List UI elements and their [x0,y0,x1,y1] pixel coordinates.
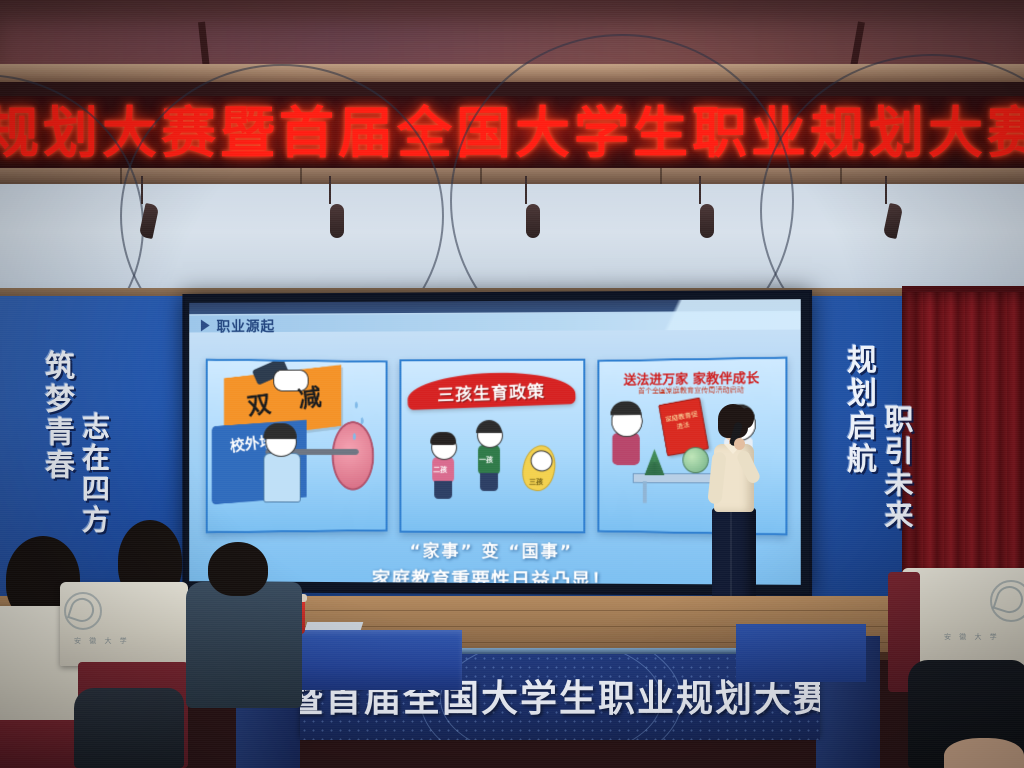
audience-jacket-2 [74,688,184,768]
chair-logo-2 [64,592,102,630]
slide-header-diagonal [587,299,800,330]
chair-logo-text-3: 安 徽 大 学 [944,632,1000,642]
presenter-hand [734,438,745,450]
panel3-plant-icon [645,449,665,475]
right-banner-line1: 规划启航 [836,344,880,476]
panel1-lifter-body [263,453,300,503]
chair-logo-3 [990,580,1024,622]
audience-head-3 [208,542,268,596]
panel3-desk-leg-left [643,481,647,503]
panel1-sweat-drop-2 [361,417,364,424]
panel1-sweat-drop-1 [355,402,358,409]
chair-logo-text-2: 安 徽 大 学 [74,636,130,646]
panel3-adult-left [611,405,642,467]
right-banner-line2: 职引未来 [876,404,918,532]
panel2-child-2-tag: 一孩 [479,455,493,465]
panel1-lifter-hair [263,423,296,439]
left-banner-line2: 志在四方 [74,412,114,536]
slide-panel-shuangjian: 双 减 校外培训 [206,359,387,534]
audience-foreground: 安 徽 大 学 安 徽 大 学 [0,520,1024,768]
panel1-sweat-drop-3 [353,433,356,440]
panel1-weight-plate [332,421,374,490]
audience-head-4 [944,738,1024,768]
panel2-child-1-tag: 二孩 [433,465,447,475]
chair-back-1 [0,720,80,768]
audience-denim-jacket [186,582,302,708]
panel3-subhead: 首个全国家庭教育宣传周活动启动 [603,384,781,396]
slide-panel-sanhai: 三孩生育政策 二孩 一孩 [399,359,585,534]
play-triangle-icon [201,320,210,332]
stage-photo-scene: 规划大赛暨首届全国大学生职业规划大赛安徽赛 筑梦青春 志在四方 规划启航 职引未… [0,0,1024,768]
hall-ceiling [0,184,1024,304]
left-banner-line1: 筑梦青春 [34,350,78,482]
panel2-child-3-tag: 三孩 [529,477,543,487]
slide-header-title: 职业源起 [217,316,276,336]
slide-header: 职业源起 [189,299,801,332]
slide-panel-group: 双 减 校外培训 三孩生育政策 [207,358,783,530]
